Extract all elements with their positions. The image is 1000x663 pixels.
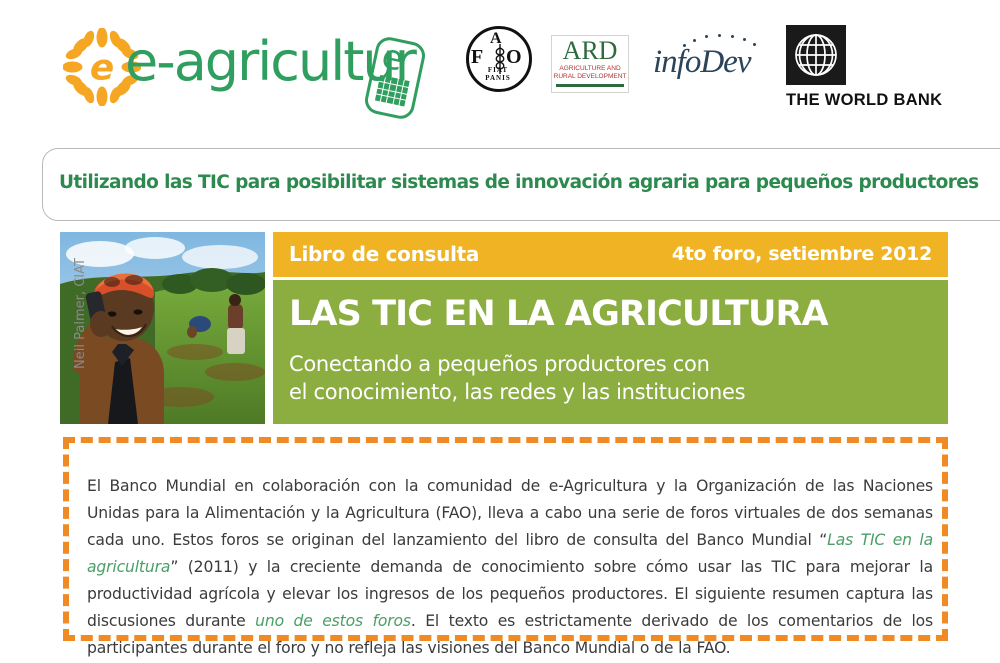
logo-bar: e e-agricultur e F A O FIAT PANIS: [0, 0, 1000, 132]
cover-title: LAS TIC EN LA AGRICULTURA: [289, 294, 828, 334]
forum-date-label: 4to foro, setiembre 2012: [672, 243, 932, 265]
forum-title-text: Utilizando las TIC para posibilitar sist…: [59, 172, 979, 193]
cover-gold-bar: Libro de consulta 4to foro, setiembre 20…: [273, 232, 948, 277]
farmer-with-phone-photo: [60, 232, 265, 424]
ard-logo: ARD AGRICULTURE AND RURAL DEVELOPMENT: [551, 35, 629, 93]
cover-photo: Neil Palmer, CIAT: [60, 232, 265, 424]
note-text-run: El Banco Mundial en colaboración con la …: [87, 477, 933, 549]
worldbank-logo: THE WORLD BANK: [786, 25, 956, 107]
phone-keypad-icon: [375, 75, 410, 107]
ard-subtitle-line1: AGRICULTURE AND: [552, 65, 628, 73]
intro-note-paragraph: El Banco Mundial en colaboración con la …: [87, 473, 933, 662]
eagriculture-logo: e e-agricultur e: [63, 22, 433, 114]
worldbank-wordmark: THE WORLD BANK: [786, 91, 956, 110]
globe-icon: [794, 33, 838, 77]
fao-motto: FIAT PANIS: [474, 66, 522, 82]
cover-subtitle: Conectando a pequeños productores con el…: [289, 350, 745, 406]
cover-banner: Neil Palmer, CIAT Libro de consulta 4to …: [60, 232, 948, 424]
svg-text:e: e: [90, 47, 114, 88]
ard-rule: [556, 84, 624, 87]
cover-text-panel: Libro de consulta 4to foro, setiembre 20…: [273, 232, 948, 424]
ard-acronym: ARD: [552, 37, 628, 65]
infodev-logo: infoDev: [653, 42, 771, 94]
worldbank-mark: [786, 25, 846, 85]
sourcebook-label: Libro de consulta: [289, 242, 479, 266]
ard-subtitle-line2: RURAL DEVELOPMENT: [552, 73, 628, 81]
fao-letter-a: A: [490, 30, 502, 48]
photo-credit: Neil Palmer, CIAT: [73, 232, 88, 401]
cover-subtitle-line2: el conocimiento, las redes y las institu…: [289, 378, 745, 406]
cover-subtitle-line1: Conectando a pequeños productores con: [289, 350, 745, 378]
note-emphasis: uno de estos foros: [255, 612, 411, 630]
eagriculture-phone-letter: e: [378, 36, 407, 79]
intro-note-box: El Banco Mundial en colaboración con la …: [63, 437, 948, 641]
infodev-dots-icon: [681, 34, 767, 50]
forum-title-bar: Utilizando las TIC para posibilitar sist…: [42, 148, 1000, 221]
cover-green-panel: LAS TIC EN LA AGRICULTURA Conectando a p…: [273, 280, 948, 424]
fao-logo: F A O FIAT PANIS: [466, 26, 532, 94]
